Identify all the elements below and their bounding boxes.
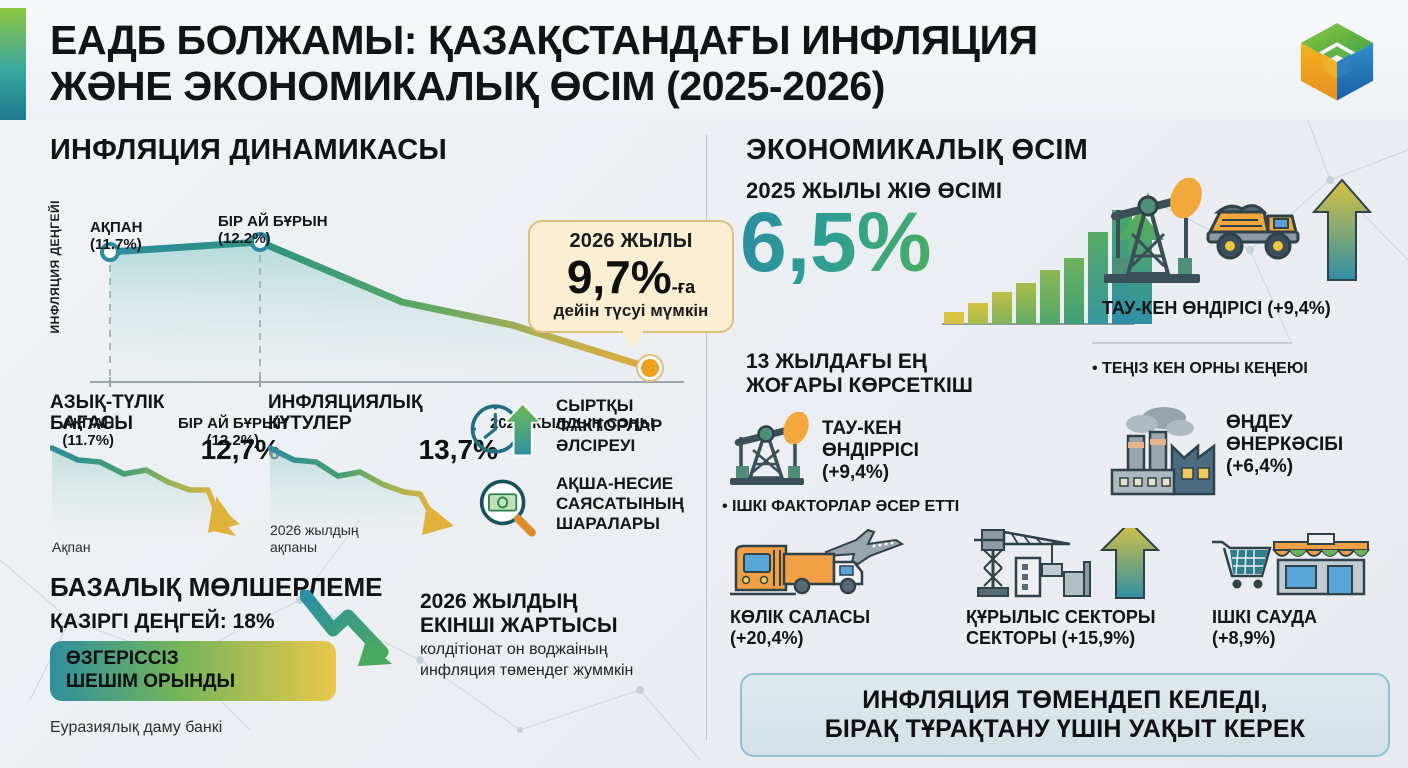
mining-mid-label: ТАУ-КЕН ӨНДІРРІСІ (+9,4%) bbox=[822, 418, 919, 484]
gdp-growth-record-note-line2: ЖОҒАРЫ КӨРСЕТКІШ bbox=[746, 374, 973, 398]
dump-truck-icon bbox=[1208, 206, 1298, 258]
page-title-line1: ЕАДБ БОЛЖАМЫ: ҚАЗАҚСТАНДАҒЫ ИНФЛЯЦИЯ bbox=[50, 17, 1038, 63]
factor-monetary-policy-label: АҚША-НЕСИЕ САЯСАТЫНЫҢ ШАРАЛАРЫ bbox=[556, 474, 684, 534]
sector-retail-label-line2: (+8,9%) bbox=[1212, 628, 1402, 649]
base-rate-forecast-heading-line2: ЕКІНШІ ЖАРТЫСЫ bbox=[420, 614, 720, 638]
conclusion-banner: ИНФЛЯЦИЯ ТӨМЕНДЕП КЕЛЕДІ, БІРАҚ ТҰРАҚТАН… bbox=[740, 673, 1390, 757]
chart-y-axis-label: ИНФЛЯЦИЯ ДЕҢГЕЙІ bbox=[48, 200, 62, 333]
mining-mid-group: ТАУ-КЕН ӨНДІРРІСІ (+9,4%) bbox=[726, 412, 976, 499]
mining-icons-group bbox=[1096, 170, 1386, 298]
food-prices-title-line2: БАҒАСЫ bbox=[50, 413, 280, 434]
factor-monetary-policy: АҚША-НЕСИЕ САЯСАТЫНЫҢ ШАРАЛАРЫ bbox=[468, 474, 703, 552]
bullet-internal-factors: • ІШКІ ФАКТОРЛАР ӘСЕР ЕТТІ bbox=[722, 498, 959, 516]
conclusion-banner-line2: БІРАҚ ТҰРАҚТАНУ ҮШІН УАҚЫТ КЕРЕК bbox=[825, 715, 1306, 745]
header-accent-bar bbox=[0, 8, 26, 120]
food-prices-caption: Ақпан bbox=[52, 539, 91, 556]
chart-point-label-prevmonth-name: БІР АЙ БҰРЫН bbox=[218, 214, 328, 231]
base-rate-forecast-text-line2: инфляция төмендег жуммкін bbox=[420, 661, 720, 682]
right-section-title: ЭКОНОМИКАЛЫҚ ӨСІМ bbox=[746, 134, 1088, 167]
callout-year: 2026 ЖЫЛЫ bbox=[536, 230, 726, 253]
food-prices-title: АЗЫҚ-ТҮЛІК БАҒАСЫ bbox=[50, 392, 280, 435]
sector-transport-label-line1: КӨЛІК САЛАСЫ bbox=[730, 607, 940, 628]
inflation-expectations-caption: 2026 жылдың ақпаны bbox=[270, 522, 359, 556]
oil-pumpjack-icon-small bbox=[726, 412, 816, 494]
manufacturing-group: ӨҢДЕУ ӨНЕРКӘСІБІ (+6,4%) bbox=[1102, 402, 1402, 515]
sector-construction: ҚҰРЫЛЫС СЕКТОРЫ СЕКТОРЫ (+15,9%) bbox=[966, 528, 1216, 649]
base-rate-pill-line2: ШЕШІМ ОРЫНДЫ bbox=[66, 671, 320, 694]
clock-up-arrow-icon bbox=[468, 398, 550, 460]
page-title-line2: ЖӘНЕ ЭКОНОМИКАЛЫҚ ӨСІМ (2025-2026) bbox=[50, 64, 1250, 110]
base-rate-decision-pill: ӨЗГЕРІССІЗ ШЕШІМ ОРЫНДЫ bbox=[50, 641, 336, 701]
mining-mid-label-line3: (+9,4%) bbox=[822, 462, 919, 484]
base-rate-pill-line1: ӨЗГЕРІССІЗ bbox=[66, 648, 320, 671]
left-column: ИНФЛЯЦИЯ ДИНАМИКАСЫ ИНФЛЯЦИЯ ДЕҢГЕЙІ bbox=[0, 120, 706, 768]
inflation-expectations-title-line1: ИНФЛЯЦИЯЛЫҚ bbox=[268, 392, 498, 413]
mining-mid-label-line1: ТАУ-КЕН bbox=[822, 418, 919, 440]
food-prices-card: АЗЫҚ-ТҮЛІК БАҒАСЫ bbox=[50, 392, 280, 552]
conclusion-banner-line1: ИНФЛЯЦИЯ ТӨМЕНДЕП КЕЛЕДІ, bbox=[825, 686, 1306, 716]
right-column: ЭКОНОМИКАЛЫҚ ӨСІМ 2025 ЖЫЛЫ ЖІӨ ӨСІМІ 6,… bbox=[706, 120, 1408, 768]
factor1-line3: ӘЛСІРЕУІ bbox=[556, 436, 662, 456]
sector-retail-label: ІШКІ САУДА (+8,9%) bbox=[1212, 607, 1402, 649]
edb-cube-logo bbox=[1294, 18, 1380, 104]
left-section-title: ИНФЛЯЦИЯ ДИНАМИКАСЫ bbox=[50, 134, 447, 167]
mining-top-label: ТАУ-КЕН ӨНДІРІСІ (+9,4%) bbox=[1102, 298, 1331, 319]
mining-mid-label-line2: ӨНДІРРІСІ bbox=[822, 440, 919, 462]
sector-construction-label: ҚҰРЫЛЫС СЕКТОРЫ СЕКТОРЫ (+15,9%) bbox=[966, 607, 1216, 649]
conclusion-banner-text: ИНФЛЯЦИЯ ТӨМЕНДЕП КЕЛЕДІ, БІРАҚ ТҰРАҚТАН… bbox=[825, 686, 1306, 745]
page-title: ЕАДБ БОЛЖАМЫ: ҚАЗАҚСТАНДАҒЫ ИНФЛЯЦИЯ ЖӘН… bbox=[50, 18, 1250, 110]
header: ЕАДБ БОЛЖАМЫ: ҚАЗАҚСТАНДАҒЫ ИНФЛЯЦИЯ ЖӘН… bbox=[0, 0, 1408, 120]
factor2-line1: АҚША-НЕСИЕ bbox=[556, 474, 684, 494]
inflation-expectations-caption-line1: 2026 жылдың bbox=[270, 522, 359, 539]
mining-top-group: ТАУ-КЕН ӨНДІРІСІ (+9,4%) bbox=[1096, 170, 1396, 303]
callout-caption: дейін түсуі мүмкін bbox=[536, 301, 726, 321]
factor1-line2: ФАКТОРЛАР bbox=[556, 416, 662, 436]
manufacturing-label-line1: ӨҢДЕУ bbox=[1226, 412, 1343, 434]
factor-external-weakening: СЫРТҚЫ ФАКТОРЛАР ӘЛСІРЕУІ bbox=[468, 396, 703, 474]
up-arrow-icon bbox=[1314, 180, 1370, 280]
callout-value-suffix: -ға bbox=[672, 277, 696, 297]
factor2-line3: ШАРАЛАРЫ bbox=[556, 514, 684, 534]
sector-transport-label-line2: (+20,4%) bbox=[730, 628, 940, 649]
chart-point-label-feb: АҚПАН (11.7%) bbox=[90, 220, 142, 254]
retail-shop-icon bbox=[1212, 528, 1392, 602]
base-rate-forecast-note: 2026 ЖЫЛДЫҢ ЕКІНШІ ЖАРТЫСЫ колдітіонат о… bbox=[420, 590, 720, 682]
sector-retail-label-line1: ІШКІ САУДА bbox=[1212, 607, 1402, 628]
magnifier-money-icon bbox=[468, 476, 550, 538]
base-rate-forecast-text: колдітіонат он воджаіның инфляция төменд… bbox=[420, 640, 720, 682]
factor1-line1: СЫРТҚЫ bbox=[556, 396, 662, 416]
sector-construction-label-line2: СЕКТОРЫ (+15,9%) bbox=[966, 628, 1216, 649]
factor-external-weakening-label: СЫРТҚЫ ФАКТОРЛАР ӘЛСІРЕУІ bbox=[556, 396, 662, 456]
forecast-callout: 2026 ЖЫЛЫ 9,7%-ға дейін түсуі мүмкін bbox=[528, 220, 734, 333]
infographic-page: ЕАДБ БОЛЖАМЫ: ҚАЗАҚСТАНДАҒЫ ИНФЛЯЦИЯ ЖӘН… bbox=[0, 0, 1408, 768]
oil-pumpjack-icon bbox=[1104, 173, 1207, 283]
sector-retail: ІШКІ САУДА (+8,9%) bbox=[1212, 528, 1402, 649]
chart-point-label-prevmonth: БІР АЙ БҰРЫН (12.2%) bbox=[218, 214, 328, 248]
gdp-growth-record-note-line1: 13 ЖЫЛДАҒЫ ЕҢ bbox=[746, 350, 973, 374]
base-rate-forecast-heading-line1: 2026 ЖЫЛДЫҢ bbox=[420, 590, 720, 614]
chart-point-label-feb-value: (11.7%) bbox=[90, 237, 142, 254]
callout-value: 9,7% bbox=[567, 251, 672, 303]
inflation-line-chart: ИНФЛЯЦИЯ ДЕҢГЕЙІ bbox=[50, 172, 690, 422]
factory-icon bbox=[1102, 402, 1222, 510]
inflation-expectations-caption-line2: ақпаны bbox=[270, 539, 359, 556]
source-credit: Еуразиялық даму банкі bbox=[50, 719, 690, 737]
bullet-tengiz-expansion: • ТЕҢІЗ КЕН ОРНЫ КЕҢЕЮІ bbox=[1092, 360, 1308, 378]
manufacturing-label-line3: (+6,4%) bbox=[1226, 456, 1343, 478]
chart-point-label-feb-name: АҚПАН bbox=[90, 220, 142, 237]
callout-value-row: 9,7%-ға bbox=[536, 254, 726, 300]
downward-trend-arrow-icon bbox=[300, 590, 420, 680]
gdp-growth-record-note: 13 ЖЫЛДАҒЫ ЕҢ ЖОҒАРЫ КӨРСЕТКІШ bbox=[746, 350, 973, 399]
gdp-growth-value: 6,5% bbox=[740, 200, 931, 284]
base-rate-block: БАЗАЛЫҚ МӨЛШЕРЛЕМЕ ҚАЗІРГІ ДЕҢГЕЙ: 18% Ө… bbox=[50, 572, 690, 737]
manufacturing-label-line2: ӨНЕРКӘСІБІ bbox=[1226, 434, 1343, 456]
inflation-factors-list: СЫРТҚЫ ФАКТОРЛАР ӘЛСІРЕУІ АҚША-НЕСИЕ САЯ… bbox=[468, 396, 703, 552]
manufacturing-label: ӨҢДЕУ ӨНЕРКӘСІБІ (+6,4%) bbox=[1226, 412, 1343, 478]
sectors-row: КӨЛІК САЛАСЫ (+20,4%) bbox=[716, 528, 1406, 658]
sector-construction-label-line1: ҚҰРЫЛЫС СЕКТОРЫ bbox=[966, 607, 1216, 628]
inflation-expectations-card: ИНФЛЯЦИЯЛЫҚ КҮТУЛЕР 13,7% 2026 жылдың ақ… bbox=[268, 392, 498, 552]
inflation-expectations-title-line2: КҮТУЛЕР bbox=[268, 413, 498, 434]
factor2-line2: САЯСАТЫНЫҢ bbox=[556, 494, 684, 514]
mining-separator bbox=[1092, 342, 1292, 344]
sector-transport: КӨЛІК САЛАСЫ (+20,4%) bbox=[730, 528, 940, 649]
construction-crane-icon bbox=[966, 528, 1196, 602]
inflation-expectations-title: ИНФЛЯЦИЯЛЫҚ КҮТУЛЕР bbox=[268, 392, 498, 435]
base-rate-forecast-heading: 2026 ЖЫЛДЫҢ ЕКІНШІ ЖАРТЫСЫ bbox=[420, 590, 720, 638]
transport-icon bbox=[730, 528, 920, 602]
sector-transport-label: КӨЛІК САЛАСЫ (+20,4%) bbox=[730, 607, 940, 649]
base-rate-forecast-text-line1: колдітіонат он воджаіның bbox=[420, 640, 720, 661]
chart-point-label-prevmonth-value: (12.2%) bbox=[218, 231, 328, 248]
food-prices-title-line1: АЗЫҚ-ТҮЛІК bbox=[50, 392, 280, 413]
